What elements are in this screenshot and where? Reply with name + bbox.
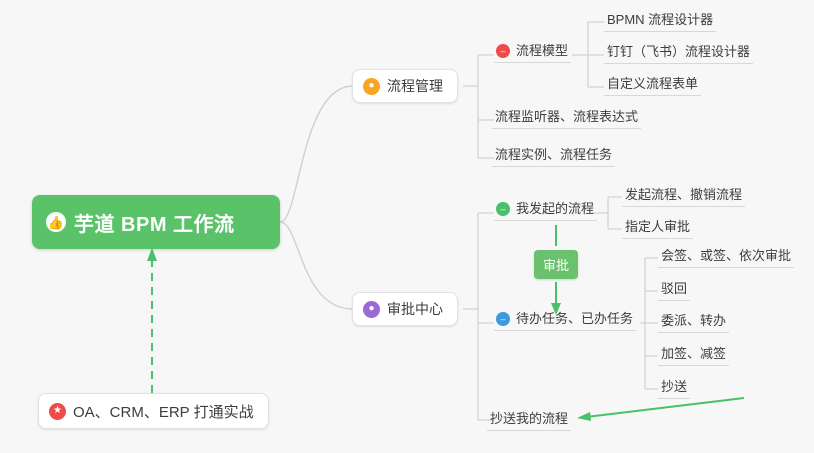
minus-circle-icon: – — [496, 312, 510, 326]
node-listener-expression[interactable]: 流程监听器、流程表达式 — [492, 109, 641, 129]
branch-node-label: 流程管理 — [387, 76, 443, 96]
node-delegate-transfer[interactable]: 委派、转办 — [658, 313, 729, 333]
branch-node-process-management[interactable]: ● 流程管理 — [352, 69, 458, 103]
callout-integration-box[interactable]: ★ OA、CRM、ERP 打通实战 — [38, 393, 269, 429]
branch-node-approval-center[interactable]: ● 审批中心 — [352, 292, 458, 326]
node-label: 待办任务、已办任务 — [516, 311, 633, 327]
node-label: 流程模型 — [516, 43, 568, 59]
root-node-label: 芋道 BPM 工作流 — [74, 208, 235, 237]
node-instance-task[interactable]: 流程实例、流程任务 — [492, 147, 615, 167]
node-countersign[interactable]: 会签、或签、依次审批 — [658, 248, 794, 268]
chat-circle-icon: ● — [363, 301, 380, 318]
node-cc-to-me[interactable]: 抄送我的流程 — [487, 411, 571, 431]
callout-integration-label: OA、CRM、ERP 打通实战 — [73, 401, 254, 422]
node-label: 我发起的流程 — [516, 201, 594, 217]
node-assign-approver[interactable]: 指定人审批 — [622, 219, 693, 239]
node-my-initiated-process[interactable]: – 我发起的流程 — [494, 201, 597, 221]
thumbs-up-icon: 👍 — [46, 212, 66, 232]
branch-node-label: 审批中心 — [387, 299, 443, 319]
node-custom-form[interactable]: 自定义流程表单 — [604, 76, 701, 96]
root-node[interactable]: 👍 芋道 BPM 工作流 — [32, 195, 280, 249]
minus-circle-icon: – — [496, 44, 510, 58]
node-start-cancel-process[interactable]: 发起流程、撤销流程 — [622, 187, 745, 207]
node-add-remove-sign[interactable]: 加签、减签 — [658, 346, 729, 366]
node-dingtalk-designer[interactable]: 钉钉（飞书）流程设计器 — [604, 44, 753, 64]
node-todo-done-task[interactable]: – 待办任务、已办任务 — [494, 311, 636, 331]
callout-approval-tag[interactable]: 审批 — [534, 250, 578, 279]
star-icon: ★ — [49, 403, 66, 420]
mindmap-canvas: 👍 芋道 BPM 工作流 ● 流程管理 – 流程模型 BPMN 流程设计器 钉钉… — [0, 0, 814, 453]
node-cc[interactable]: 抄送 — [658, 379, 690, 399]
minus-circle-icon: – — [496, 202, 510, 216]
location-pin-icon: ● — [363, 78, 380, 95]
node-reject[interactable]: 驳回 — [658, 281, 690, 301]
node-process-model[interactable]: – 流程模型 — [494, 43, 571, 63]
node-bpmn-designer[interactable]: BPMN 流程设计器 — [604, 12, 716, 32]
